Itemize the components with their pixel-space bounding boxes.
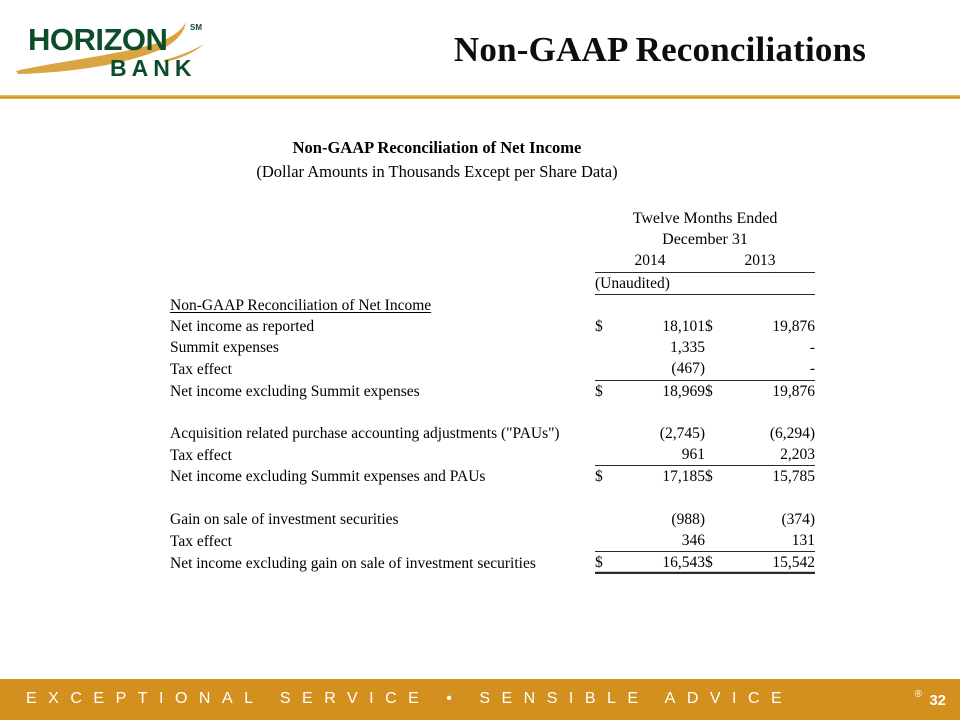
row-value-2014: (467): [621, 358, 705, 380]
row-value-2014: 17,185: [621, 466, 705, 488]
row-currency-2014: [595, 337, 621, 358]
row-value-2013: 19,876: [731, 316, 815, 337]
row-value-2014: 961: [621, 444, 705, 466]
table-section-header-row: Non-GAAP Reconciliation of Net Income: [170, 294, 815, 316]
slide-header: HORIZON SM BANK Non-GAAP Reconciliations: [0, 0, 960, 96]
registered-trademark-icon: ®: [915, 689, 922, 700]
table-row: Summit expenses 1,335 -: [170, 337, 815, 358]
row-value-2014: 16,543: [621, 552, 705, 574]
row-value-2014: 346: [621, 530, 705, 552]
table-row-subtotal: Net income excluding Summit expenses $ 1…: [170, 380, 815, 402]
audit-note: (Unaudited): [595, 272, 815, 294]
period-line-1: Twelve Months Ended: [595, 208, 815, 229]
row-currency-2013: [705, 530, 731, 552]
row-label: Gain on sale of investment securities: [170, 509, 595, 530]
year-row-spacer: [170, 250, 595, 272]
page-title: Non-GAAP Reconciliations: [380, 30, 940, 70]
column-header-2014: 2014: [595, 250, 705, 272]
row-currency-2013: [705, 337, 731, 358]
row-value-2014: (988): [621, 509, 705, 530]
row-currency-2014: [595, 530, 621, 552]
footer-tagline: EXCEPTIONAL SERVICE • SENSIBLE ADVICE: [26, 690, 793, 708]
row-value-2013: 15,785: [731, 466, 815, 488]
table-row: Tax effect 961 2,203: [170, 444, 815, 466]
row-value-2013: 19,876: [731, 380, 815, 402]
row-value-2013: (6,294): [731, 423, 815, 444]
spacer-cell: [170, 402, 815, 423]
footer-band: EXCEPTIONAL SERVICE • SENSIBLE ADVICE ® …: [0, 679, 960, 720]
row-value-2013: -: [731, 358, 815, 380]
row-currency-2014: [595, 444, 621, 466]
row-value-2014: 1,335: [621, 337, 705, 358]
header-spacer-cell-2: [170, 229, 595, 250]
row-value-2014: (2,745): [621, 423, 705, 444]
row-currency-2014: $: [595, 466, 621, 488]
header-spacer-cell: [170, 208, 595, 229]
row-label: Tax effect: [170, 444, 595, 466]
row-currency-2014: [595, 423, 621, 444]
table-spacer-row: [170, 402, 815, 423]
page-number: 32: [929, 692, 946, 709]
section-header-val13: [731, 294, 815, 316]
header-divider-rule: [0, 95, 960, 99]
logo-artwork: HORIZON SM BANK: [14, 16, 214, 80]
row-value-2013: 131: [731, 530, 815, 552]
row-label: Tax effect: [170, 530, 595, 552]
table-subtitle: (Dollar Amounts in Thousands Except per …: [0, 162, 960, 182]
table-header-year-row: 2014 2013: [170, 250, 815, 272]
row-value-2013: (374): [731, 509, 815, 530]
row-value-2013: 2,203: [731, 444, 815, 466]
row-label: Summit expenses: [170, 337, 595, 358]
row-currency-2014: $: [595, 316, 621, 337]
table-header-period-row-2: December 31: [170, 229, 815, 250]
spacer-cell: [170, 488, 815, 509]
row-currency-2014: [595, 509, 621, 530]
column-header-2013: 2013: [705, 250, 815, 272]
row-currency-2013: $: [705, 316, 731, 337]
section-header-cur14: [595, 294, 621, 316]
table-header-audit-row: (Unaudited): [170, 272, 815, 294]
table-header-period-row: Twelve Months Ended: [170, 208, 815, 229]
financial-table-block: Non-GAAP Reconciliation of Net Income (D…: [0, 138, 960, 574]
table-row: Acquisition related purchase accounting …: [170, 423, 815, 444]
table-row: Tax effect 346 131: [170, 530, 815, 552]
row-label: Net income as reported: [170, 316, 595, 337]
row-currency-2014: [595, 358, 621, 380]
section-header-cur13: [705, 294, 731, 316]
row-label: Net income excluding Summit expenses and…: [170, 466, 595, 488]
row-value-2013: -: [731, 337, 815, 358]
logo-horizon-text: HORIZON: [28, 22, 167, 57]
row-currency-2013: $: [705, 380, 731, 402]
row-currency-2014: $: [595, 552, 621, 574]
row-currency-2013: $: [705, 552, 731, 574]
table-row-total: Net income excluding gain on sale of inv…: [170, 552, 815, 574]
row-currency-2014: $: [595, 380, 621, 402]
row-currency-2013: $: [705, 466, 731, 488]
table-row: Net income as reported $ 18,101 $ 19,876: [170, 316, 815, 337]
section-header-label: Non-GAAP Reconciliation of Net Income: [170, 294, 595, 316]
non-gaap-reconciliation-table: Twelve Months Ended December 31 2014 201…: [170, 208, 815, 574]
section-header-val14: [621, 294, 705, 316]
table-row: Gain on sale of investment securities (9…: [170, 509, 815, 530]
audit-row-spacer: [170, 272, 595, 294]
period-line-2: December 31: [595, 229, 815, 250]
table-spacer-row: [170, 488, 815, 509]
row-label: Tax effect: [170, 358, 595, 380]
logo-sm-mark: SM: [190, 23, 202, 32]
row-value-2013: 15,542: [731, 552, 815, 574]
row-label: Net income excluding Summit expenses: [170, 380, 595, 402]
row-currency-2013: [705, 423, 731, 444]
table-row: Tax effect (467) -: [170, 358, 815, 380]
row-currency-2013: [705, 444, 731, 466]
row-value-2014: 18,969: [621, 380, 705, 402]
table-row-subtotal: Net income excluding Summit expenses and…: [170, 466, 815, 488]
row-currency-2013: [705, 509, 731, 530]
logo-bank-text: BANK: [110, 55, 196, 80]
row-label: Net income excluding gain on sale of inv…: [170, 552, 595, 574]
row-currency-2013: [705, 358, 731, 380]
table-title: Non-GAAP Reconciliation of Net Income: [0, 138, 960, 158]
row-label: Acquisition related purchase accounting …: [170, 423, 595, 444]
horizon-bank-logo: HORIZON SM BANK: [14, 16, 214, 80]
row-value-2014: 18,101: [621, 316, 705, 337]
